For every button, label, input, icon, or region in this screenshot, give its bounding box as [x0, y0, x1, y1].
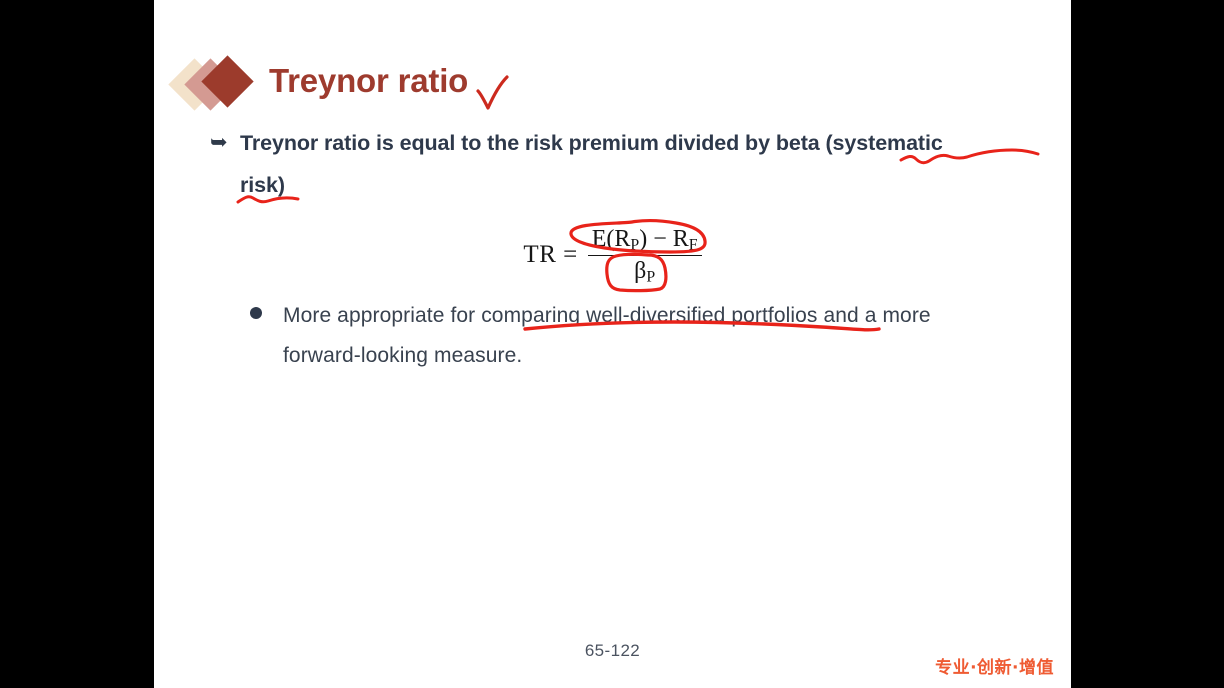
diamond-ornament-icon — [176, 58, 256, 110]
bullet-level1-line2: risk) — [240, 164, 1040, 206]
page-number: 65-122 — [154, 641, 1071, 661]
bullet-level1: ➥ Treynor ratio is equal to the risk pre… — [210, 122, 1040, 206]
bullet-level2-text: More appropriate for comparing well-dive… — [250, 296, 1040, 376]
bullet-level1-row: ➥ Treynor ratio is equal to the risk pre… — [210, 122, 1040, 206]
formula-lhs: TR = — [523, 241, 577, 269]
presentation-slide: Treynor ratio ➥ Treynor ratio is equal t… — [154, 0, 1071, 688]
formula-inner: TR = E(RP) − RF βP — [523, 225, 701, 286]
brand-slogan: 专业·创新·增值 — [935, 653, 1054, 678]
bullet-level1-line1: Treynor ratio is equal to the risk premi… — [240, 131, 943, 155]
bullet-level1-text: Treynor ratio is equal to the risk premi… — [210, 122, 1040, 206]
formula-numerator-sub-f: F — [689, 236, 698, 253]
treynor-ratio-formula: TR = E(RP) − RF βP — [154, 225, 1071, 286]
formula-denominator-beta: β — [634, 258, 646, 284]
formula-denominator: βP — [588, 256, 702, 286]
bullet-level2-line2: forward-looking measure. — [283, 336, 1040, 376]
arrow-bullet-icon: ➥ — [210, 123, 228, 163]
formula-numerator-sub-p: P — [630, 236, 639, 253]
formula-numerator-mid: ) − R — [639, 226, 689, 252]
screen: Treynor ratio ➥ Treynor ratio is equal t… — [0, 0, 1224, 688]
formula-numerator-main: E(R — [592, 226, 631, 252]
page-title: Treynor ratio — [269, 52, 468, 110]
bullet-level2-line1: More appropriate for comparing well-dive… — [283, 304, 931, 327]
check-mark-annotation-icon — [476, 75, 510, 111]
dot-bullet-icon — [250, 307, 262, 319]
formula-denominator-sub-p: P — [646, 269, 655, 286]
bullet-level2: More appropriate for comparing well-dive… — [250, 296, 1040, 376]
formula-numerator: E(RP) − RF — [588, 226, 702, 256]
formula-fraction: E(RP) − RF βP — [588, 226, 702, 287]
